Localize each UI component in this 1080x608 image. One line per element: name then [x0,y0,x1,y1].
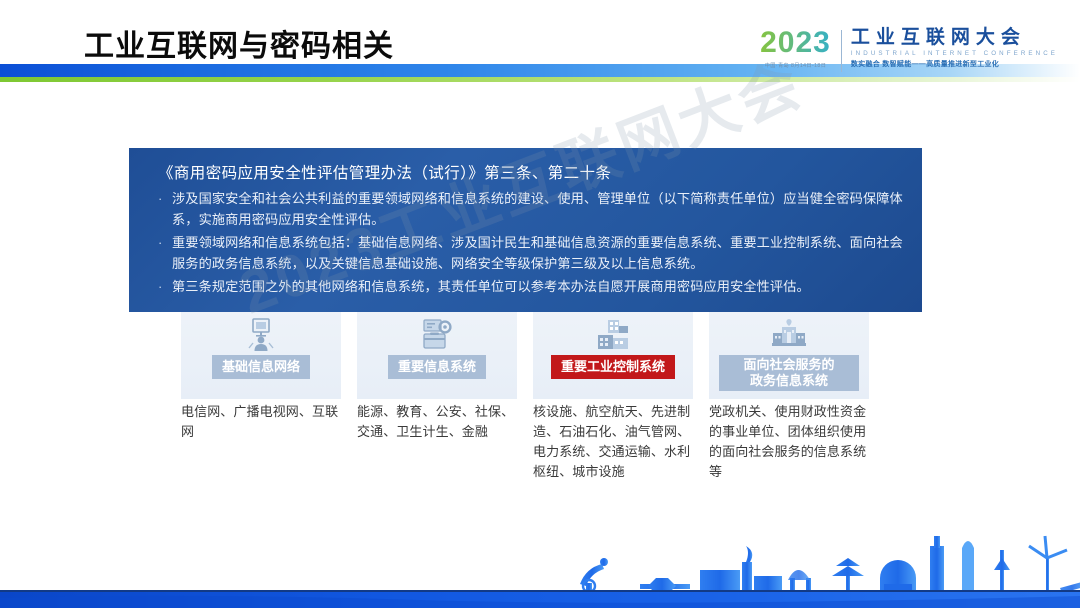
logo-year: 2023 [760,28,831,58]
category-card-row: 基础信息网络 重要信息系统 [181,307,896,399]
card-label: 重要信息系统 [388,355,486,379]
card-description: 电信网、广播电视网、互联网 [181,402,349,442]
card-label: 基础信息网络 [212,355,310,379]
card-description: 党政机关、使用财政性资金的事业单位、团体组织使用的面向社会服务的信息系统等 [709,402,877,482]
server-gear-icon [420,318,454,352]
bullet-marker-icon: · [158,277,172,298]
bullet-marker-icon: · [158,189,172,230]
category-card-important-info-system[interactable]: 重要信息系统 [357,307,517,399]
bullet-text: 重要领域网络和信息系统包括：基础信息网络、涉及国计民生和基础信息资源的重要信息系… [172,233,906,274]
list-item: · 重要领域网络和信息系统包括：基础信息网络、涉及国计民生和基础信息资源的重要信… [158,233,906,274]
regulation-bullet-list: · 涉及国家安全和社会公共利益的重要领域网络和信息系统的建设、使用、管理单位（以… [158,189,906,301]
logo-name-cn: 工业互联网大会 [851,28,1058,48]
card-label: 重要工业控制系统 [551,355,675,379]
logo-tagline: 数实融合 数智赋能——高质量推进新型工业化 [851,59,1058,69]
page-title: 工业互联网与密码相关 [84,21,394,65]
regulation-title: 《商用密码应用安全性评估管理办法（试行）》第三条、第二十条 [158,161,611,183]
logo-divider [841,30,842,72]
footer-skyline-decoration [0,500,1080,608]
card-label: 面向社会服务的 政务信息系统 [719,355,859,391]
bullet-text: 第三条规定范围之外的其他网络和信息系统，其责任单位可以参考本办法自愿开展商用密码… [172,277,906,298]
bullet-marker-icon: · [158,233,172,274]
list-item: · 涉及国家安全和社会公共利益的重要领域网络和信息系统的建设、使用、管理单位（以… [158,189,906,230]
category-card-government-service[interactable]: 面向社会服务的 政务信息系统 [709,307,869,399]
logo-year-block: 2023 中国·青岛 8月14日-18日 [760,28,841,69]
regulation-panel: 《商用密码应用安全性评估管理办法（试行）》第三条、第二十条 · 涉及国家安全和社… [129,148,922,312]
card-label-line2: 政务信息系统 [750,373,828,388]
factory-icon [595,318,631,352]
card-description: 能源、教育、公安、社保、交通、卫生计生、金融 [357,402,525,442]
category-card-basic-network[interactable]: 基础信息网络 [181,307,341,399]
government-building-icon [771,318,807,352]
slide-header: 工业互联网与密码相关 2023 中国·青岛 8月14日-18日 工业互联网大会 … [0,0,1080,96]
slide-root: 工业互联网与密码相关 2023 中国·青岛 8月14日-18日 工业互联网大会 … [0,0,1080,608]
logo-name-block: 工业互联网大会 INDUSTRIAL INTERNET CONFERENCE 数… [851,28,1058,69]
bullet-text: 涉及国家安全和社会公共利益的重要领域网络和信息系统的建设、使用、管理单位（以下简… [172,189,906,230]
logo-name-en: INDUSTRIAL INTERNET CONFERENCE [851,50,1058,57]
category-card-industrial-control[interactable]: 重要工业控制系统 [533,307,693,399]
skyline-shapes [580,536,1080,594]
conference-logo: 2023 中国·青岛 8月14日-18日 工业互联网大会 INDUSTRIAL … [760,28,1058,84]
list-item: · 第三条规定范围之外的其他网络和信息系统，其责任单位可以参考本办法自愿开展商用… [158,277,906,298]
logo-date: 中国·青岛 8月14日-18日 [760,62,831,69]
card-description: 核设施、航空航天、先进制造、石油石化、油气管网、电力系统、交通运输、水利枢纽、城… [533,402,701,482]
card-label-line1: 面向社会服务的 [743,357,834,372]
network-monitor-icon [246,318,276,352]
